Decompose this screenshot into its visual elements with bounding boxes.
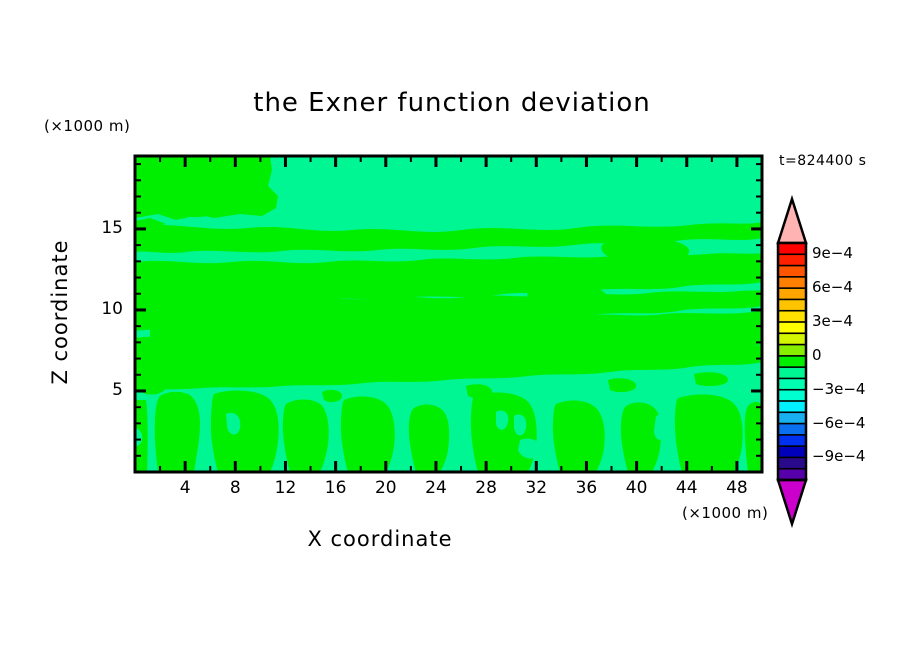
colorbar-band [778, 299, 806, 311]
x-tick-label: 28 [466, 478, 506, 498]
colorbar-band [778, 333, 806, 345]
colorbar-tick-label: 0 [812, 346, 822, 364]
x-tick-label: 32 [516, 478, 556, 498]
colorbar-band [778, 457, 806, 469]
colorbar-band [778, 435, 806, 447]
x-tick-label: 12 [265, 478, 305, 498]
y-tick-label: 10 [83, 299, 123, 319]
y-tick-label: 15 [83, 218, 123, 238]
colorbar-band [778, 288, 806, 300]
colorbar-band [778, 378, 806, 390]
y-tick-label: 5 [83, 380, 123, 400]
colorbar-band [778, 412, 806, 424]
colorbar-tick-label: 9e−4 [812, 244, 853, 262]
colorbar-band [778, 311, 806, 323]
x-tick-label: 4 [165, 478, 205, 498]
colorbar-under-arrow [778, 480, 806, 524]
chart-canvas: the Exner function deviation (×1000 m) t… [0, 0, 904, 654]
colorbar-band [778, 254, 806, 266]
colorbar-band [778, 243, 806, 255]
colorbar-tick-label: 6e−4 [812, 278, 853, 296]
colorbar-over-arrow [778, 199, 806, 243]
x-tick-label: 16 [316, 478, 356, 498]
colorbar-tick-label: −3e−4 [812, 380, 865, 398]
colorbar-band [778, 356, 806, 368]
colorbar-band [778, 401, 806, 413]
x-tick-label: 24 [416, 478, 456, 498]
colorbar-band [778, 367, 806, 379]
colorbar-band [778, 424, 806, 436]
colorbar-band [778, 266, 806, 278]
colorbar-tick-label: −9e−4 [812, 447, 865, 465]
colorbar-bands [778, 199, 806, 524]
x-tick-label: 44 [667, 478, 707, 498]
x-tick-label: 40 [617, 478, 657, 498]
colorbar-band [778, 277, 806, 289]
colorbar-band [778, 322, 806, 334]
x-tick-label: 36 [566, 478, 606, 498]
colorbar-tick-label: 3e−4 [812, 312, 853, 330]
x-tick-label: 20 [366, 478, 406, 498]
colorbar-band [778, 446, 806, 458]
colorbar-band [778, 390, 806, 402]
x-tick-label: 8 [215, 478, 255, 498]
x-tick-label: 48 [717, 478, 757, 498]
colorbar-band [778, 345, 806, 357]
colorbar-tick-label: −6e−4 [812, 414, 865, 432]
